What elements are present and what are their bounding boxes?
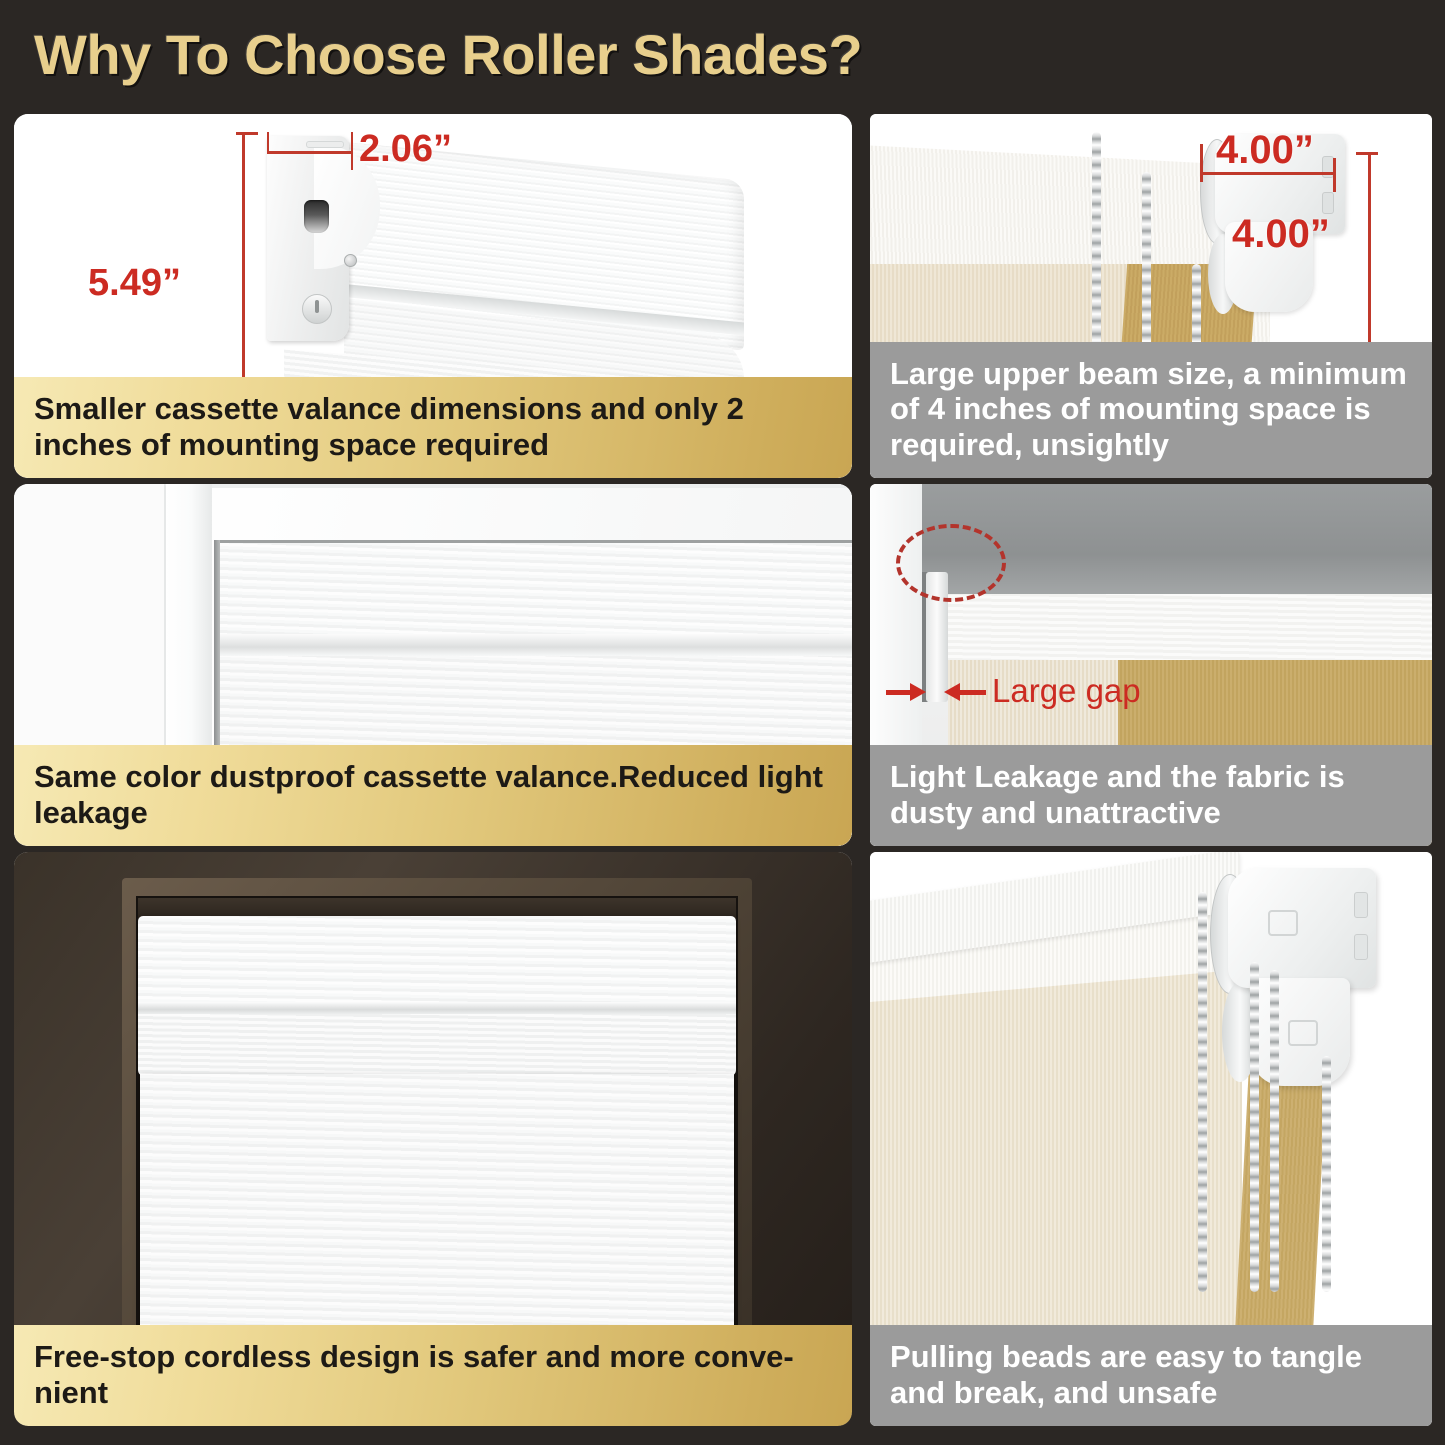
panel-2: 4.00” 4.00” Large upper beam size, a min… — [870, 114, 1432, 478]
bracket-slot-lower — [1322, 192, 1334, 214]
height-dimension-label: 4.00” — [1232, 212, 1330, 257]
dim-tick-top — [1356, 152, 1378, 155]
bracket-slot-upper — [1354, 892, 1368, 918]
cassette-valance — [138, 916, 736, 1008]
roller-tube-white — [948, 594, 1432, 664]
bracket-knob — [302, 294, 332, 324]
panel-6-caption: Pulling beads are easy to tangle and bre… — [870, 1325, 1432, 1426]
dim-tick-left — [1200, 144, 1203, 182]
chain-slot — [304, 200, 329, 233]
gap-label: Large gap — [992, 672, 1141, 710]
arrow-left-icon — [944, 683, 960, 701]
panel-5: Free-stop cordless design is safer and m… — [14, 852, 852, 1426]
panel-1: 2.06” 5.49” Smaller cassette valance dim… — [14, 114, 852, 478]
bead-chain-3 — [1270, 970, 1279, 1292]
panel-2-cell: 4.00” 4.00” Large upper beam size, a min… — [864, 114, 1432, 484]
panel-6: Pulling beads are easy to tangle and bre… — [870, 852, 1432, 1426]
dim-line-horizontal — [267, 151, 353, 154]
arrow-tail-left — [886, 690, 912, 695]
panel-4-cell: Large gap Light Leakage and the fabric i… — [864, 484, 1432, 852]
bead-chain-1 — [1198, 892, 1207, 1292]
panel-4: Large gap Light Leakage and the fabric i… — [870, 484, 1432, 846]
panel-3-cell: smaller gap Same color dustproof cassett… — [14, 484, 864, 852]
valance-lower — [138, 1014, 736, 1076]
panel-1-cell: 2.06” 5.49” Smaller cassette valance dim… — [14, 114, 864, 484]
mounting-slot — [306, 141, 344, 148]
bead-chain-4 — [1322, 1056, 1331, 1292]
dim-line-vertical — [1368, 152, 1371, 352]
bracket-slot-lower — [1354, 934, 1368, 960]
panel-6-cell: Pulling beads are easy to tangle and bre… — [864, 852, 1432, 1432]
height-dimension-label: 5.49” — [88, 262, 181, 305]
cassette-valance-front — [220, 540, 852, 636]
panel-2-caption: Large upper beam size, a minimum of 4 in… — [870, 342, 1432, 478]
arrow-right-icon — [910, 683, 926, 701]
bead-chain-2 — [1250, 962, 1259, 1292]
valance-lip — [220, 634, 852, 656]
comparison-grid: 2.06” 5.49” Smaller cassette valance dim… — [14, 114, 1432, 1432]
panel-5-cell: Free-stop cordless design is safer and m… — [14, 852, 864, 1432]
bracket-emblem-icon — [1268, 910, 1298, 936]
panel-3-caption: Same color dustproof cassette valance.Re… — [14, 745, 852, 846]
infographic-page: Why To Choose Roller Shades? — [0, 0, 1445, 1445]
dim-tick-right — [1333, 158, 1336, 192]
dim-tick-top — [236, 132, 258, 135]
screw-icon — [344, 254, 357, 267]
bracket-emblem-lower-icon — [1288, 1020, 1318, 1046]
panel-3: smaller gap Same color dustproof cassett… — [14, 484, 852, 846]
width-dimension-label: 2.06” — [359, 128, 452, 171]
arrow-tail-right — [960, 690, 986, 695]
panel-1-caption: Smaller cassette valance dimensions and … — [14, 377, 852, 478]
page-title: Why To Choose Roller Shades? — [34, 22, 862, 87]
highlight-ellipse-icon — [896, 524, 1006, 602]
panel-5-caption: Free-stop cordless design is safer and m… — [14, 1325, 852, 1426]
width-dimension-label: 4.00” — [1216, 128, 1314, 173]
panel-4-caption: Light Leakage and the fabric is dusty an… — [870, 745, 1432, 846]
